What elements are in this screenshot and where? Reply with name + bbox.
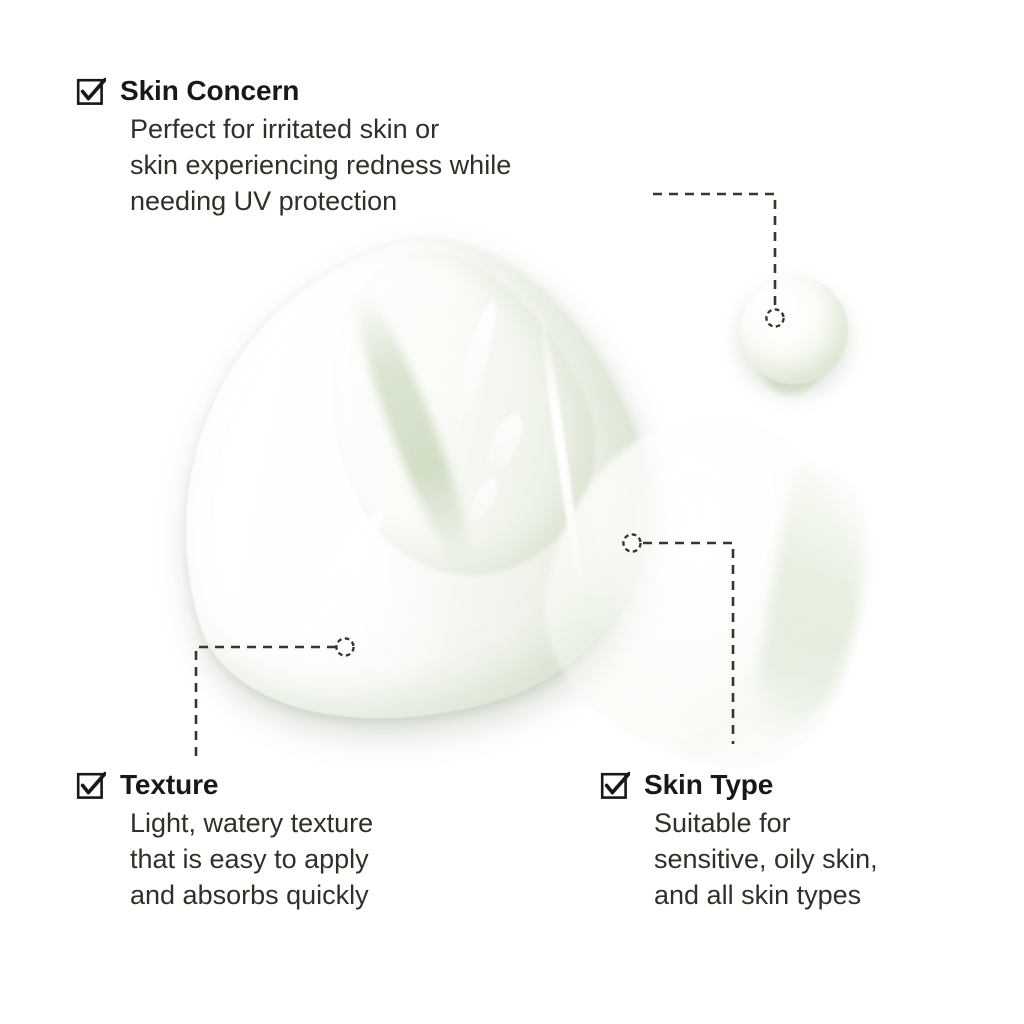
callout-skin-concern-title: Skin Concern [120, 77, 299, 105]
callout-texture-header: Texture [76, 770, 373, 800]
infographic-canvas: Skin Concern Perfect for irritated skin … [0, 0, 1024, 1024]
callout-skin-type-header: Skin Type [600, 770, 878, 800]
checkbox-checked-icon [76, 76, 106, 106]
checkbox-checked-icon [76, 770, 106, 800]
callout-texture: Texture Light, watery texture that is ea… [76, 770, 373, 914]
callout-skin-concern-header: Skin Concern [76, 76, 511, 106]
checkbox-checked-icon [600, 770, 630, 800]
callout-skin-type-title: Skin Type [644, 771, 773, 799]
callout-skin-concern: Skin Concern Perfect for irritated skin … [76, 76, 511, 220]
callout-skin-type-body: Suitable for sensitive, oily skin, and a… [654, 806, 878, 914]
callout-texture-body: Light, watery texture that is easy to ap… [130, 806, 373, 914]
callout-skin-concern-body: Perfect for irritated skin or skin exper… [130, 112, 511, 220]
callout-texture-title: Texture [120, 771, 218, 799]
callout-skin-type: Skin Type Suitable for sensitive, oily s… [600, 770, 878, 914]
small-cream-droplet [740, 276, 848, 384]
